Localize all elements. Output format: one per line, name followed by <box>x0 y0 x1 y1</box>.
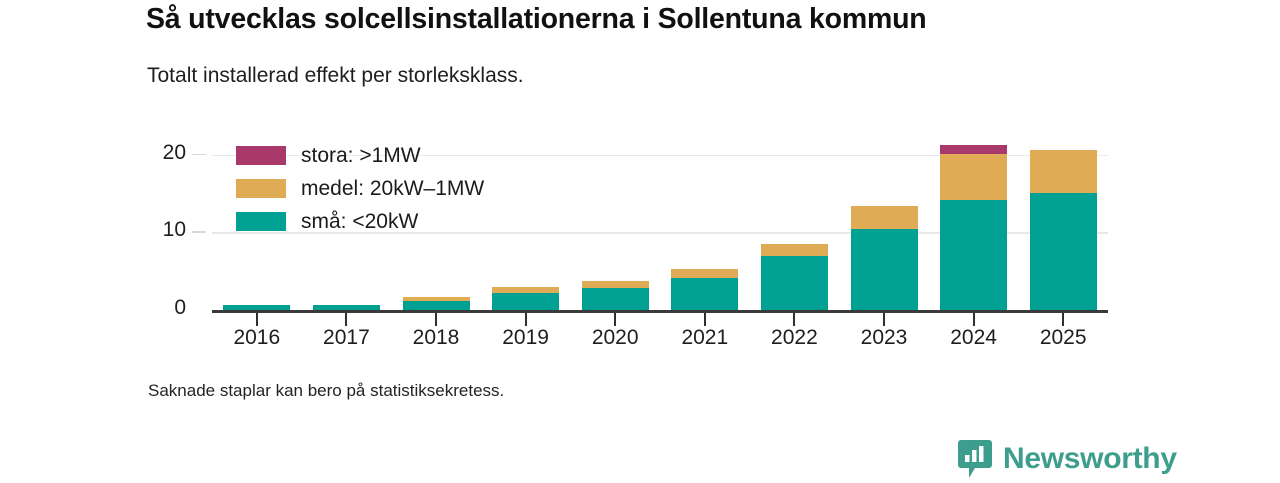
x-tick-mark <box>614 313 616 326</box>
bar-chart-bubble-icon <box>958 440 992 478</box>
y-tick-label: 10 <box>136 218 186 242</box>
x-tick-mark <box>883 313 885 326</box>
x-tick-mark <box>973 313 975 326</box>
legend-swatch <box>236 212 286 231</box>
legend-item[interactable]: små: <20kW <box>236 207 484 236</box>
x-tick-mark <box>1062 313 1064 326</box>
bar-segment[interactable] <box>582 281 649 288</box>
y-tick-mark <box>192 154 206 156</box>
bar-segment[interactable] <box>492 293 559 310</box>
bar-segment[interactable] <box>1030 150 1097 193</box>
x-tick-mark <box>345 313 347 326</box>
x-tick-mark <box>256 313 258 326</box>
bar-group[interactable] <box>403 297 470 310</box>
bar-segment[interactable] <box>940 145 1007 154</box>
legend-item[interactable]: medel: 20kW–1MW <box>236 174 484 203</box>
bar-group[interactable] <box>761 244 828 310</box>
legend-swatch <box>236 146 286 165</box>
bar-segment[interactable] <box>761 244 828 256</box>
x-tick-label: 2016 <box>212 326 302 350</box>
x-tick-label: 2023 <box>839 326 929 350</box>
bar-chart: 01020 2016201720182019202020212022202320… <box>0 0 1280 480</box>
y-tick-mark <box>192 231 206 233</box>
bar-segment[interactable] <box>940 200 1007 310</box>
bar-segment[interactable] <box>761 256 828 310</box>
x-tick-label: 2025 <box>1018 326 1108 350</box>
bar-segment[interactable] <box>671 278 738 310</box>
bar-group[interactable] <box>492 287 559 310</box>
bar-group[interactable] <box>671 269 738 310</box>
bar-group[interactable] <box>940 145 1007 310</box>
bar-segment[interactable] <box>851 206 918 229</box>
x-tick-label: 2018 <box>391 326 481 350</box>
newsworthy-logo[interactable]: Newsworthy <box>958 440 1177 478</box>
footnote: Saknade staplar kan bero på statistiksek… <box>148 381 504 401</box>
x-tick-label: 2019 <box>481 326 571 350</box>
x-tick-label: 2022 <box>749 326 839 350</box>
legend-swatch <box>236 179 286 198</box>
bar-segment[interactable] <box>671 269 738 278</box>
x-tick-mark <box>793 313 795 326</box>
bar-group[interactable] <box>582 281 649 310</box>
x-tick-mark <box>525 313 527 326</box>
bar-group[interactable] <box>851 206 918 310</box>
bar-group[interactable] <box>1030 150 1097 310</box>
x-tick-mark <box>704 313 706 326</box>
bar-segment[interactable] <box>1030 193 1097 310</box>
legend-label: stora: >1MW <box>301 144 421 168</box>
x-tick-mark <box>435 313 437 326</box>
legend-label: medel: 20kW–1MW <box>301 177 484 201</box>
x-tick-label: 2020 <box>570 326 660 350</box>
legend-item[interactable]: stora: >1MW <box>236 141 484 170</box>
bar-segment[interactable] <box>940 154 1007 200</box>
y-tick-label: 0 <box>136 296 186 320</box>
logo-wordmark: Newsworthy <box>1003 444 1177 474</box>
bar-segment[interactable] <box>403 301 470 310</box>
chart-legend: stora: >1MWmedel: 20kW–1MWsmå: <20kW <box>236 141 484 240</box>
chart-page: Så utvecklas solcellsinstallationerna i … <box>0 0 1280 480</box>
x-tick-label: 2021 <box>660 326 750 350</box>
x-tick-label: 2024 <box>929 326 1019 350</box>
bar-segment[interactable] <box>582 288 649 311</box>
x-tick-label: 2017 <box>301 326 391 350</box>
bar-segment[interactable] <box>851 229 918 310</box>
legend-label: små: <20kW <box>301 210 418 234</box>
y-tick-label: 20 <box>136 141 186 165</box>
